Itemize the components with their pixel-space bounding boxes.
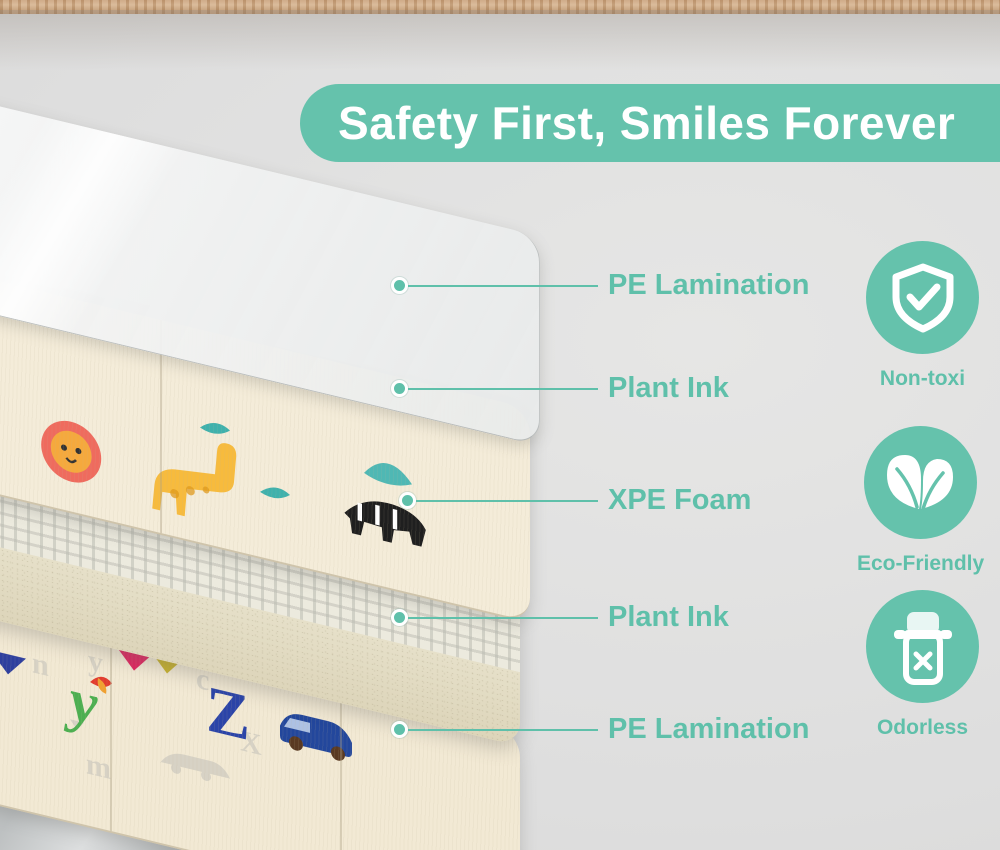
callout-leader-line [408,388,598,390]
callout-leader-line [408,729,598,731]
badge-non-toxic: Non-toxi [866,241,979,391]
badge-odorless: Odorless [866,590,979,740]
callout-pe-lamination-bottom: PE Lamination [391,713,809,746]
badge-label: Eco-Friendly [857,552,984,576]
bottle-no-icon [892,608,954,686]
callout-label: Plant Ink [608,601,729,634]
callout-dot [399,492,416,509]
callout-leader-line [416,500,598,502]
callout-plant-ink-bottom: Plant Ink [391,601,729,634]
callout-dot [391,721,408,738]
callout-pe-lamination-top: PE Lamination [391,269,809,302]
callout-dot [391,380,408,397]
callout-leader-line [408,617,598,619]
leaves-icon [883,451,959,515]
callout-label: Plant Ink [608,372,729,405]
headline-text: Safety First, Smiles Forever [338,96,955,150]
callout-plant-ink-top: Plant Ink [391,372,729,405]
callout-dot [391,277,408,294]
callout-label: PE Lamination [608,713,809,746]
callout-xpe-foam: XPE Foam [399,484,751,517]
badge-label: Non-toxi [880,367,965,391]
badge-circle [866,590,979,703]
badge-eco-friendly: Eco-Friendly [857,426,984,576]
callout-label: PE Lamination [608,269,809,302]
product-infographic: Z L n y c X m C X y Z [0,0,1000,850]
callout-dot [391,609,408,626]
badge-label: Odorless [877,716,968,740]
callout-label: XPE Foam [608,484,751,517]
badge-circle [866,241,979,354]
badge-circle [864,426,977,539]
callout-leader-line [408,285,598,287]
shield-check-icon [890,263,956,333]
headline-banner: Safety First, Smiles Forever [300,84,1000,162]
